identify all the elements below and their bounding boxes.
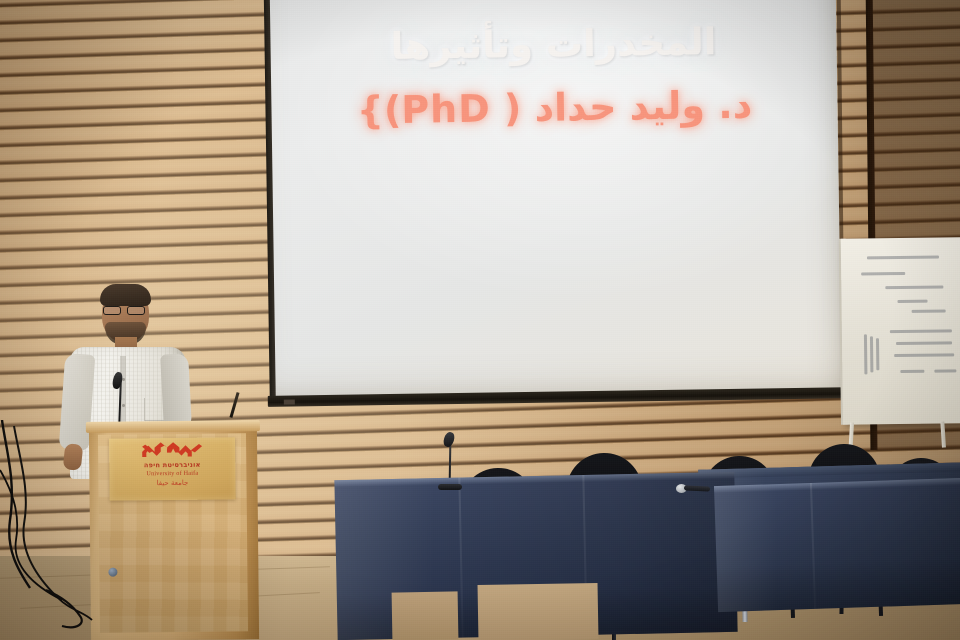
flipchart-note-line [900,370,924,373]
screen-surface: المخدرات وتأثيرها د. وليد حداد ( PhD)} [269,0,841,398]
flipchart-leg [940,421,946,447]
plaque-english-text: University of Haifa [146,470,198,478]
flipchart-note-line [934,369,956,372]
speaker-arm-right [160,353,192,428]
screen-pull-tab [284,399,295,404]
eyeglass-lens-right [127,306,145,315]
flipchart-note-line [867,256,939,260]
table-microphone-base [438,484,462,490]
flipchart-note-line [890,329,952,333]
plaque-hebrew-text: אוניברסיטת חיפה [144,461,201,470]
flipchart-note-line [885,285,943,288]
flipchart-note-line [861,272,905,275]
floor-gap-under-table [478,583,599,640]
tablecloth-drape [717,558,960,612]
slide-subtitle: د. وليد حداد ( PhD)} [357,83,753,133]
front-table-right [714,478,960,612]
eyeglass-lens-left [103,306,121,315]
shirt-button [122,404,125,407]
flipchart-note-line [894,353,954,357]
slide-title: المخدرات وتأثيرها [390,21,716,68]
speaker-hair [100,284,151,306]
university-plaque: אוניברסיטת חיפה University of Haifa جامع… [109,437,236,500]
eyeglasses-icon [103,306,148,315]
university-of-haifa-logo-icon [141,441,203,461]
wall-cables [0,420,120,640]
slide-content: المخدرات وتأثيرها د. وليد حداد ( PhD)} [269,0,841,398]
flipchart-note-line [912,309,946,312]
lecture-hall-photo: المخدرات وتأثيرها د. وليد حداد ( PhD)} [0,0,960,640]
flipchart-note-line [898,300,928,303]
floor-gap-under-table [392,591,459,640]
flipchart-note-vertical [876,338,879,370]
projection-screen: المخدرات وتأثيرها د. وليد حداد ( PhD)} [251,0,846,414]
flipchart-note-vertical [870,336,873,372]
flipchart-easel [835,237,960,444]
plaque-arabic-text: جامعة حيفا [157,478,189,486]
flipchart-note-vertical [864,334,867,374]
flipchart-board [841,237,960,424]
flipchart-note-line [896,341,952,345]
